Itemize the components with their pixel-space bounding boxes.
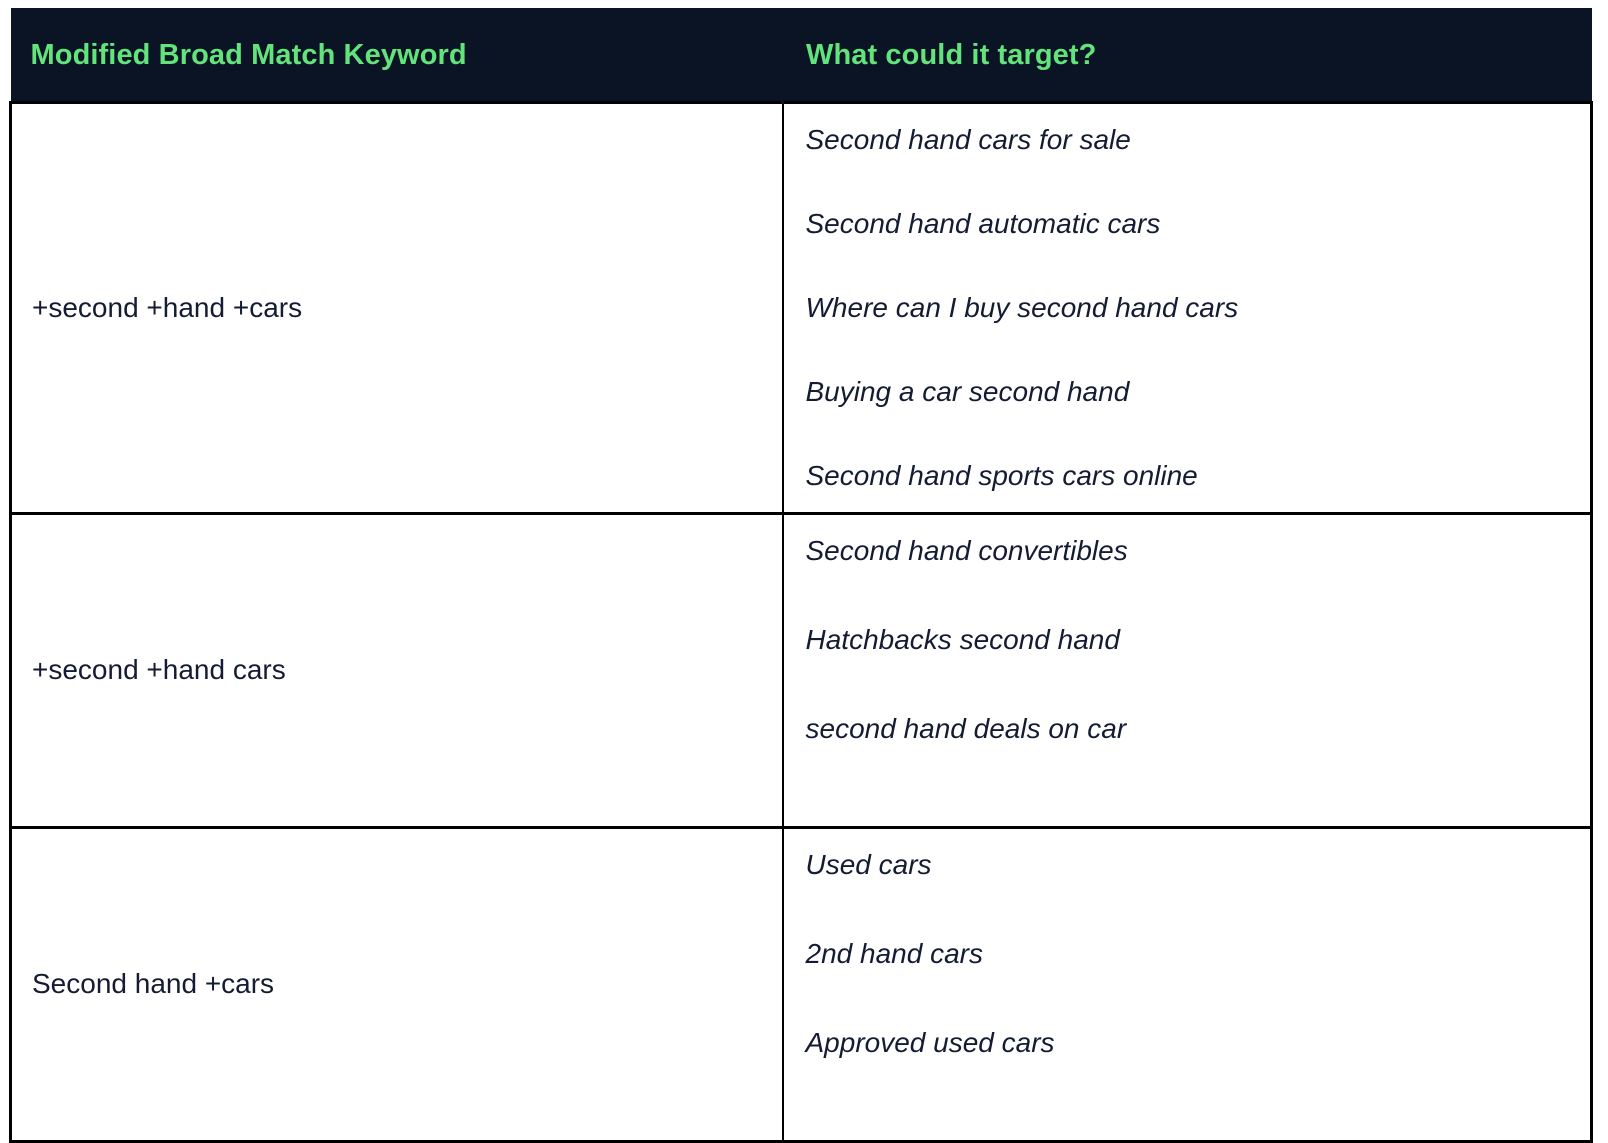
list-item: Used cars — [806, 851, 1573, 879]
column-header-keyword: Modified Broad Match Keyword — [11, 8, 783, 103]
list-item: Hatchbacks second hand — [806, 626, 1573, 654]
header-row: Modified Broad Match Keyword What could … — [11, 8, 1592, 103]
page-root: Modified Broad Match Keyword What could … — [0, 0, 1608, 1070]
list-item: Buying a car second hand — [806, 378, 1573, 406]
target-list: Used cars 2nd hand cars Approved used ca… — [806, 851, 1573, 1057]
list-item: Second hand convertibles — [806, 537, 1573, 565]
list-item: Approved used cars — [806, 1029, 1573, 1057]
list-item: second hand deals on car — [806, 715, 1573, 743]
list-item: Second hand cars for sale — [806, 126, 1573, 154]
keyword-text: Second hand +cars — [32, 969, 764, 1000]
cell-target: Used cars 2nd hand cars Approved used ca… — [783, 828, 1592, 1142]
list-item: Where can I buy second hand cars — [806, 294, 1573, 322]
cell-target: Second hand convertibles Hatchbacks seco… — [783, 514, 1592, 828]
cell-keyword: +second +hand +cars — [11, 103, 783, 514]
list-item: Second hand sports cars online — [806, 462, 1573, 490]
target-list: Second hand convertibles Hatchbacks seco… — [806, 537, 1573, 743]
table-row: +second +hand +cars Second hand cars for… — [11, 103, 1592, 514]
keyword-match-table: Modified Broad Match Keyword What could … — [9, 8, 1593, 1143]
table-wrapper: Modified Broad Match Keyword What could … — [9, 8, 1590, 1143]
table-body: +second +hand +cars Second hand cars for… — [11, 103, 1592, 1142]
table-row: Second hand +cars Used cars 2nd hand car… — [11, 828, 1592, 1142]
keyword-text: +second +hand cars — [32, 655, 764, 686]
cell-keyword: Second hand +cars — [11, 828, 783, 1142]
cell-target: Second hand cars for sale Second hand au… — [783, 103, 1592, 514]
cell-keyword: +second +hand cars — [11, 514, 783, 828]
list-item: Second hand automatic cars — [806, 210, 1573, 238]
table-row: +second +hand cars Second hand convertib… — [11, 514, 1592, 828]
target-list: Second hand cars for sale Second hand au… — [806, 126, 1573, 490]
column-header-target: What could it target? — [783, 8, 1592, 103]
table-header: Modified Broad Match Keyword What could … — [11, 8, 1592, 103]
keyword-text: +second +hand +cars — [32, 293, 764, 324]
list-item: 2nd hand cars — [806, 940, 1573, 968]
